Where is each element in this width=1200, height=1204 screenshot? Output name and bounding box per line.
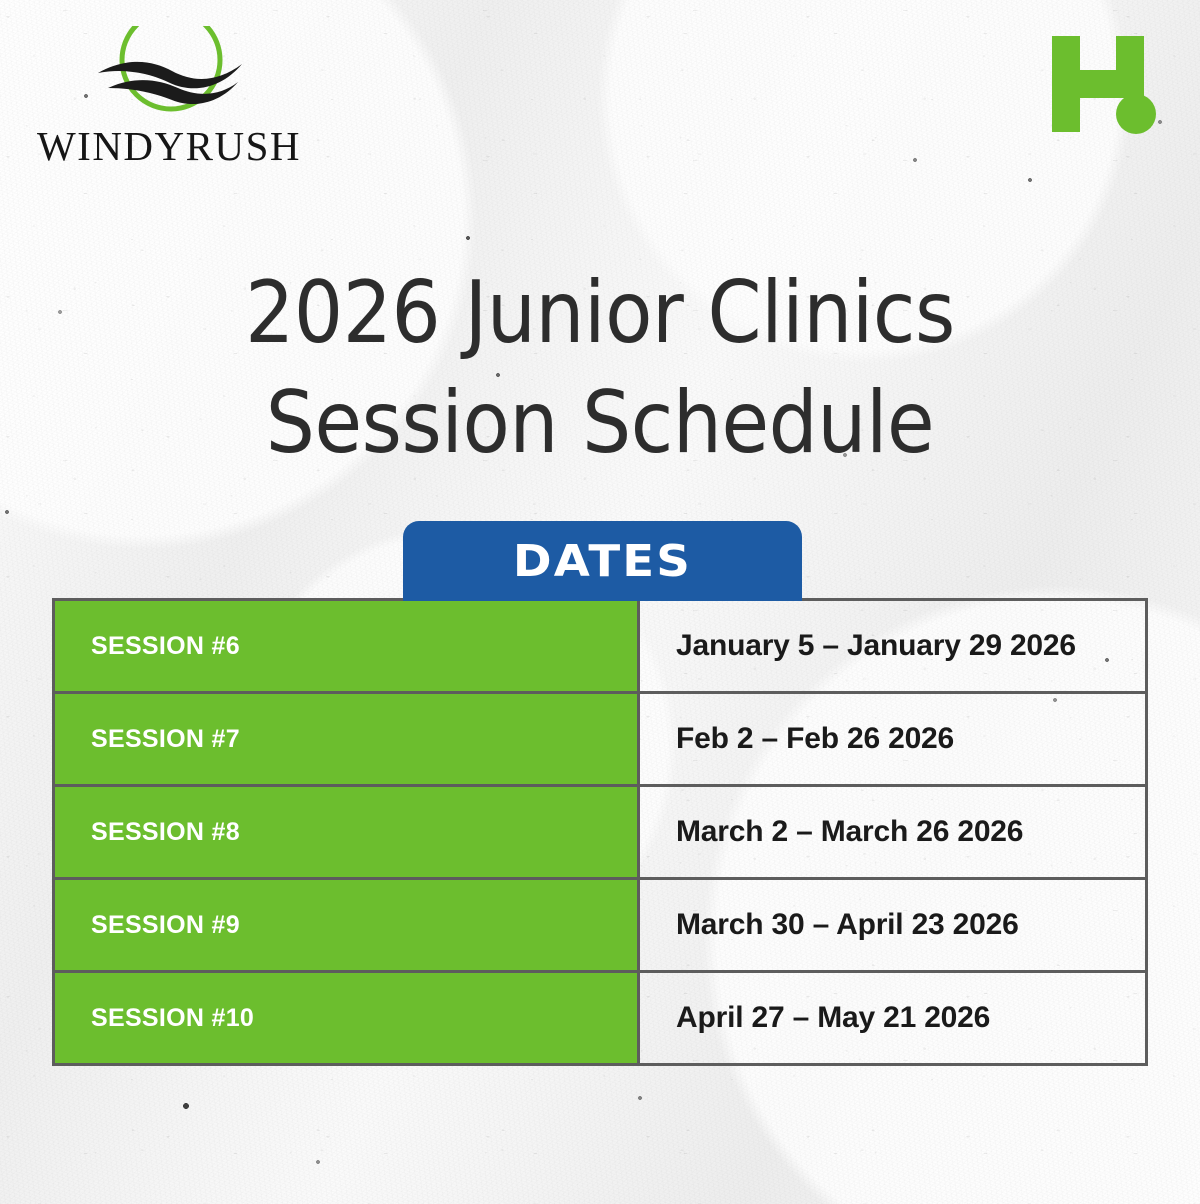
session-label-cell: SESSION #6 bbox=[54, 600, 639, 693]
page-title: 2026 Junior Clinics Session Schedule bbox=[0, 258, 1200, 478]
windyrush-wordmark: WINDYRUSH bbox=[14, 126, 324, 167]
title-line-1: 2026 Junior Clinics bbox=[60, 258, 1140, 368]
table-row: SESSION #8 March 2 – March 26 2026 bbox=[54, 786, 1147, 879]
dates-header-banner: DATES bbox=[403, 521, 802, 601]
session-dates-cell: March 30 – April 23 2026 bbox=[639, 879, 1147, 972]
table-row: SESSION #9 March 30 – April 23 2026 bbox=[54, 879, 1147, 972]
session-dates-cell: January 5 – January 29 2026 bbox=[639, 600, 1147, 693]
session-label-cell: SESSION #10 bbox=[54, 972, 639, 1065]
poster-canvas: WINDYRUSH 2026 Junior Clinics Session Sc… bbox=[0, 0, 1200, 1204]
session-dates-cell: March 2 – March 26 2026 bbox=[639, 786, 1147, 879]
session-schedule-body: SESSION #6 January 5 – January 29 2026 S… bbox=[54, 600, 1147, 1065]
session-dates-cell: April 27 – May 21 2026 bbox=[639, 972, 1147, 1065]
session-label-cell: SESSION #9 bbox=[54, 879, 639, 972]
dates-header-label: DATES bbox=[513, 536, 692, 587]
windyrush-wordmark-text: WINDYRUSH bbox=[37, 123, 301, 169]
session-label-cell: SESSION #7 bbox=[54, 693, 639, 786]
windyrush-circle-wave-icon bbox=[96, 26, 246, 126]
session-label-cell: SESSION #8 bbox=[54, 786, 639, 879]
table-row: SESSION #7 Feb 2 – Feb 26 2026 bbox=[54, 693, 1147, 786]
h-dot-icon bbox=[1044, 28, 1164, 140]
session-dates-cell: Feb 2 – Feb 26 2026 bbox=[639, 693, 1147, 786]
table-row: SESSION #6 January 5 – January 29 2026 bbox=[54, 600, 1147, 693]
windyrush-logo: WINDYRUSH bbox=[14, 26, 324, 166]
session-schedule-table: SESSION #6 January 5 – January 29 2026 S… bbox=[52, 598, 1148, 1066]
title-line-2: Session Schedule bbox=[60, 368, 1140, 478]
table-row: SESSION #10 April 27 – May 21 2026 bbox=[54, 972, 1147, 1065]
